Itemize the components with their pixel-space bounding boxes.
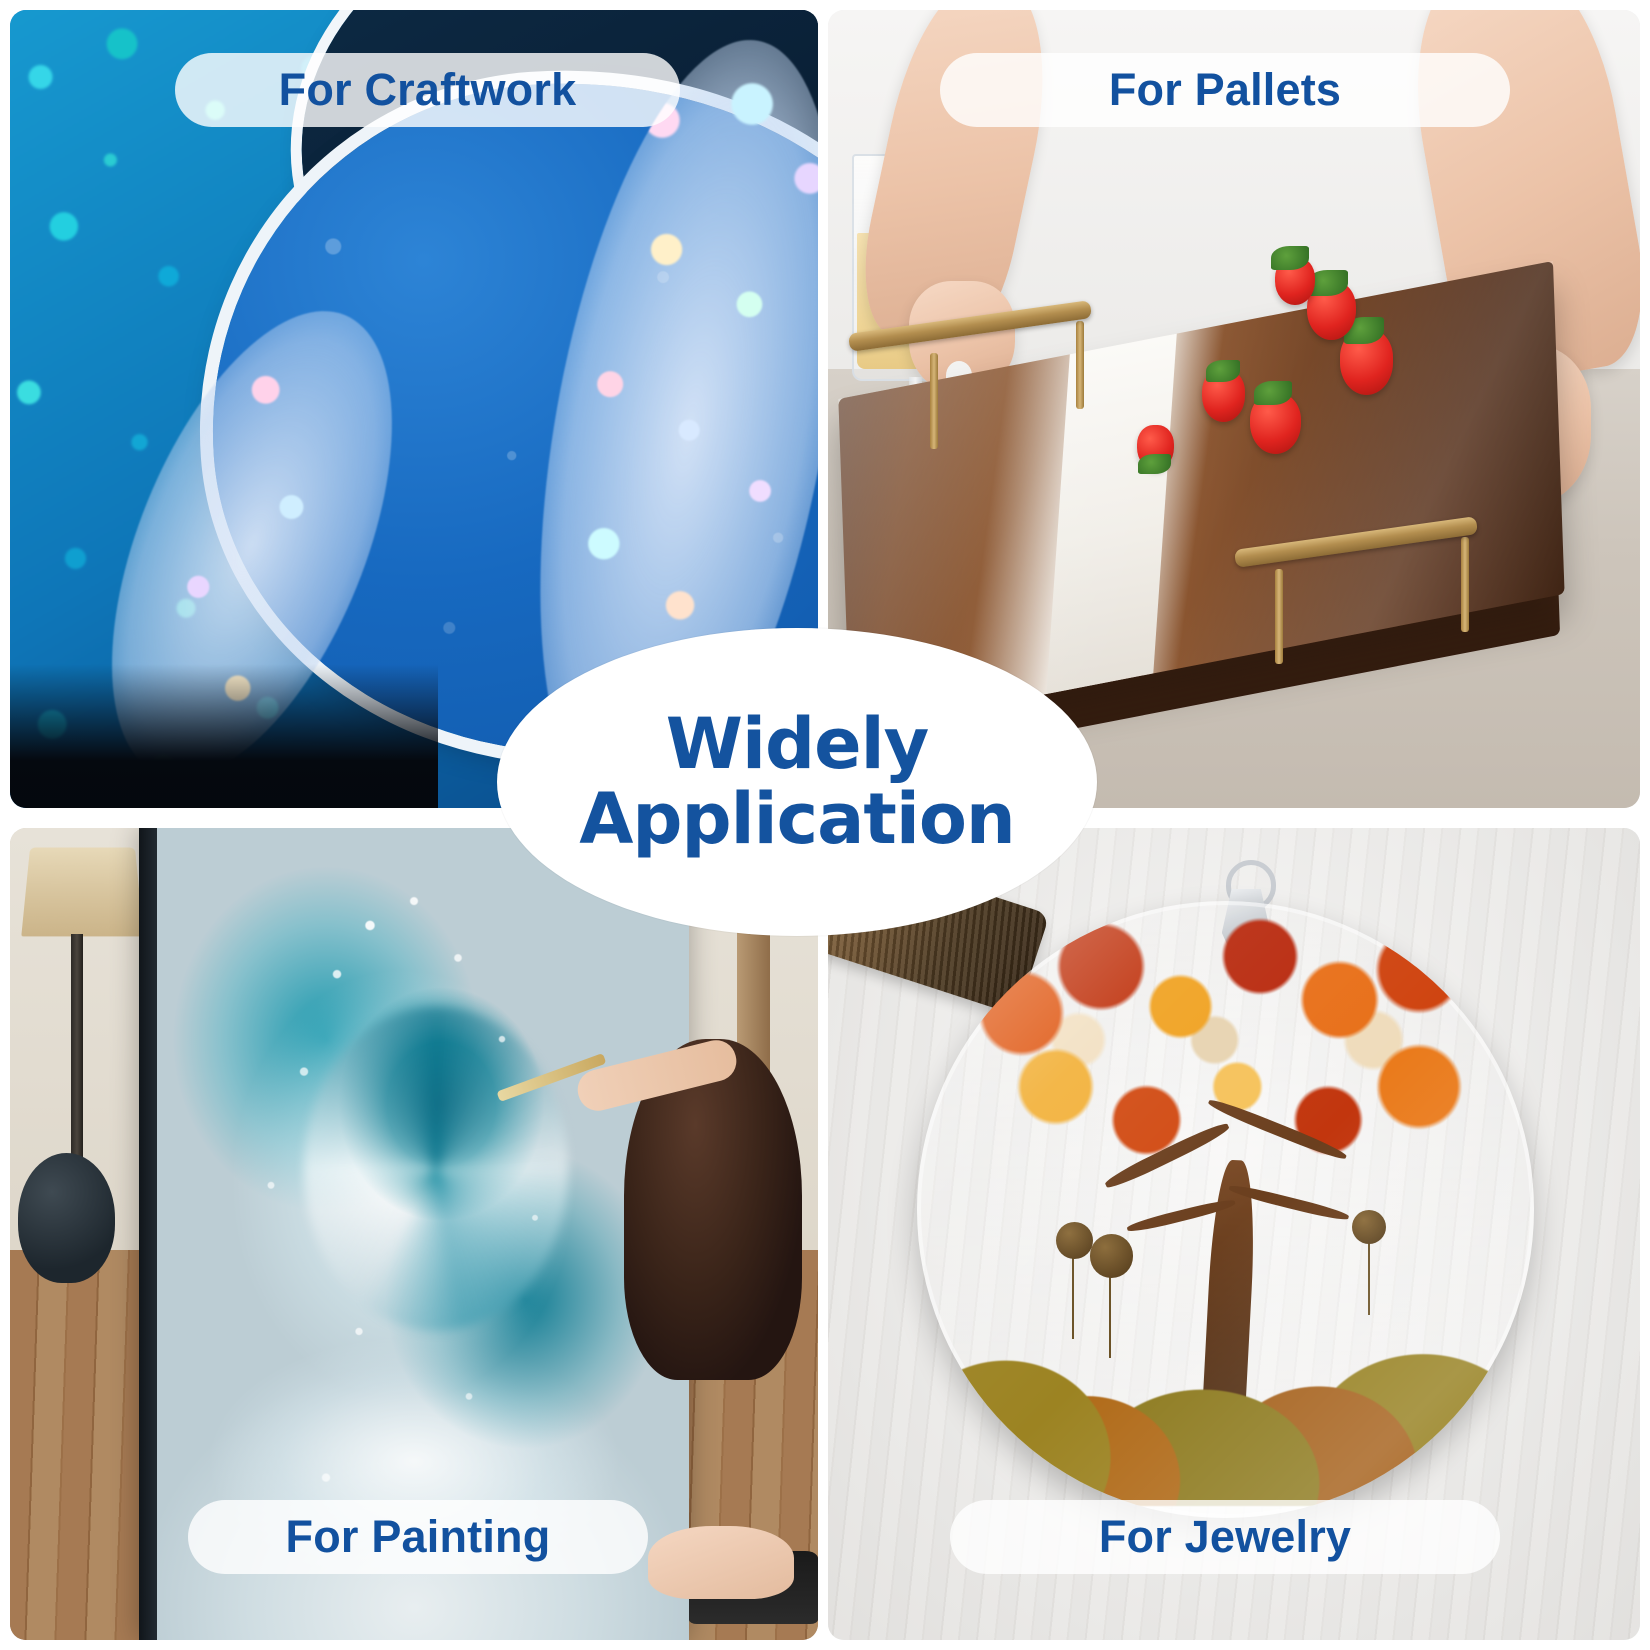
panel-painting: For Painting bbox=[10, 828, 818, 1640]
label-for-craftwork-text: For Craftwork bbox=[279, 64, 577, 116]
center-badge: Widely Application bbox=[497, 628, 1097, 936]
label-for-jewelry-text: For Jewelry bbox=[1099, 1511, 1351, 1563]
badge-title-line2: Application bbox=[579, 784, 1015, 855]
badge-title-line1: Widely bbox=[666, 709, 928, 780]
widely-application-collage: For Craftwork bbox=[0, 0, 1650, 1650]
label-for-craftwork: For Craftwork bbox=[175, 53, 680, 127]
label-for-painting: For Painting bbox=[188, 1500, 648, 1574]
label-for-pallets-text: For Pallets bbox=[1109, 64, 1341, 116]
label-for-jewelry: For Jewelry bbox=[950, 1500, 1500, 1574]
label-for-painting-text: For Painting bbox=[286, 1511, 551, 1563]
panel-jewelry: For Jewelry bbox=[828, 828, 1640, 1640]
label-for-pallets: For Pallets bbox=[940, 53, 1510, 127]
